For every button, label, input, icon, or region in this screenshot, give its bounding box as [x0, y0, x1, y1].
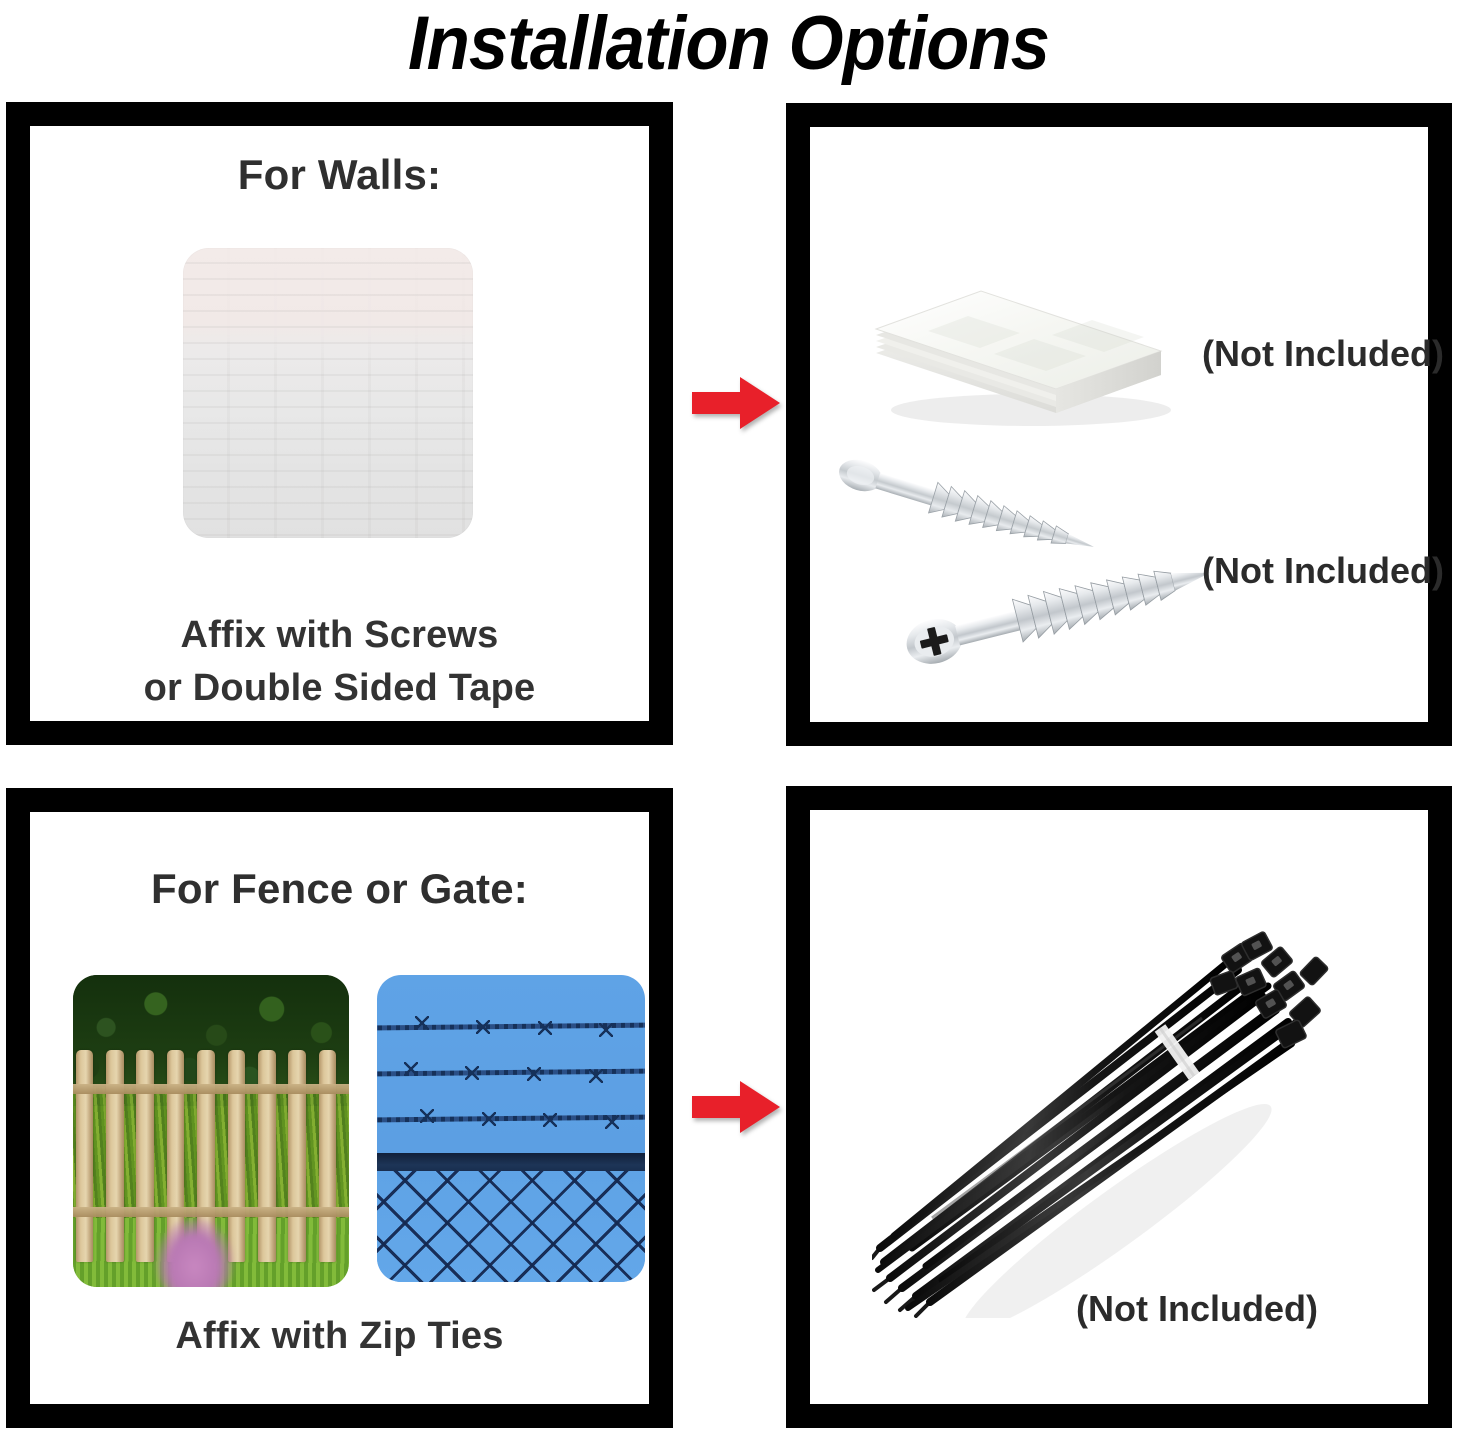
wooden-picket-fence-image	[73, 975, 349, 1287]
barbed-wire-chain-link-fence-image	[377, 975, 645, 1282]
tape-not-included-label: (Not Included)	[1202, 333, 1444, 375]
white-brick-wall-image	[183, 248, 473, 538]
wood-screw-image-lower	[894, 547, 1234, 677]
red-right-arrow-icon-top	[692, 375, 780, 431]
walls-heading: For Walls:	[30, 150, 649, 200]
walls-caption-line-2: or Double Sided Tape	[30, 664, 649, 712]
wood-screw-image-upper	[832, 447, 1132, 557]
panel-for-walls: For Walls: Affix with Screws or Double S…	[6, 102, 673, 745]
black-zip-tie-bundle-image	[872, 918, 1342, 1318]
fence-caption: Affix with Zip Ties	[30, 1312, 649, 1360]
zipties-not-included-label: (Not Included)	[1076, 1288, 1318, 1330]
red-right-arrow-icon-bottom	[692, 1079, 780, 1135]
page-title: Installation Options	[51, 0, 1406, 90]
panel-zip-ties: (Not Included)	[786, 786, 1452, 1428]
fence-heading: For Fence or Gate:	[30, 864, 649, 914]
panel-wall-hardware: (Not Included)	[786, 103, 1452, 746]
screws-not-included-label: (Not Included)	[1202, 550, 1444, 592]
double-sided-tape-stack-image	[856, 235, 1186, 435]
panel-for-fence-or-gate: For Fence or Gate:	[6, 788, 673, 1428]
walls-caption-line-1: Affix with Screws	[30, 611, 649, 659]
